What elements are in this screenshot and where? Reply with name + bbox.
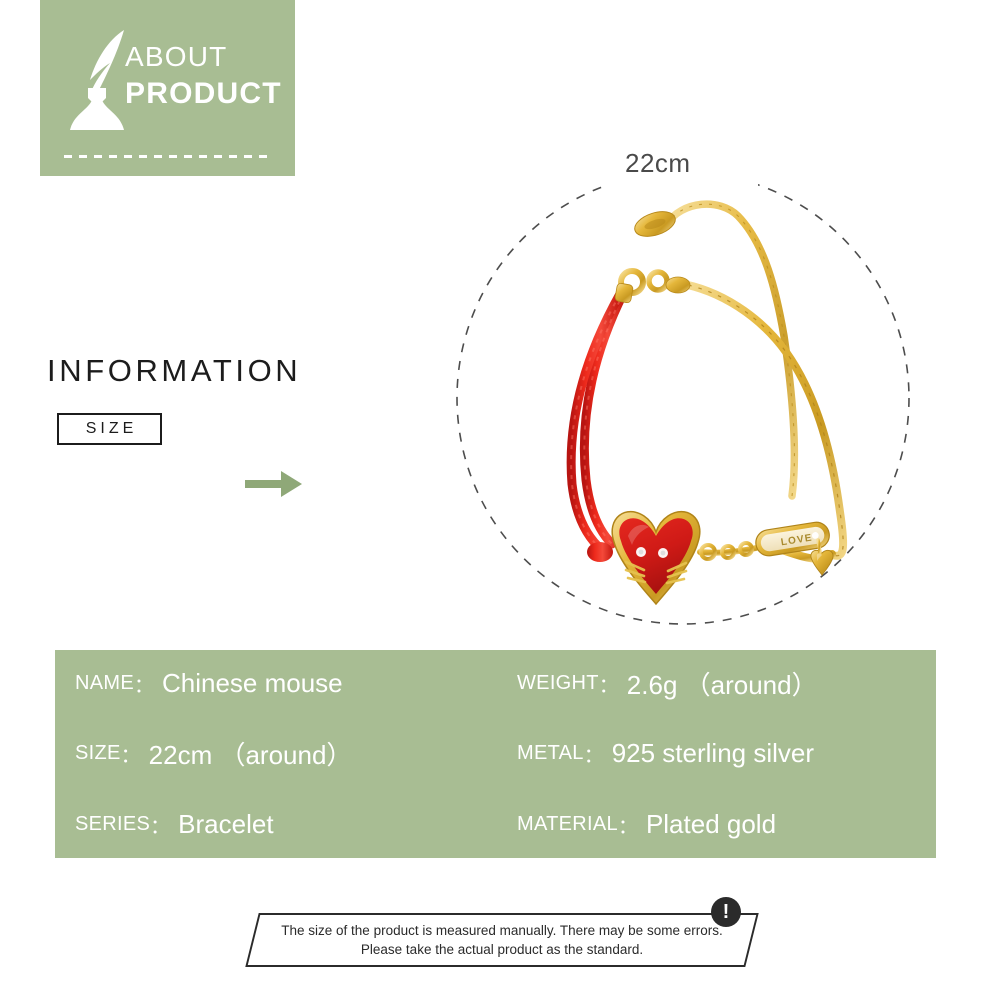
- spec-value-weight: 2.6g （around）: [627, 665, 818, 702]
- spec-colon: ：: [618, 810, 638, 839]
- spec-colon: ：: [584, 739, 604, 768]
- spec-key-series: SERIES: [75, 813, 150, 836]
- disclaimer-line2: Please take the actual product as the st…: [361, 940, 643, 959]
- size-tag-label: SIZE: [82, 420, 138, 438]
- table-row: SIZE ： 22cm （around）: [55, 720, 494, 787]
- about-title-line2: PRODUCT: [125, 74, 295, 114]
- spec-value-name: Chinese mouse: [162, 668, 343, 699]
- quill-inkwell-icon: [62, 26, 134, 136]
- header-dashed-divider: [64, 155, 272, 158]
- spec-key-metal: METAL: [517, 742, 584, 765]
- table-row: SERIES ： Bracelet: [55, 791, 494, 858]
- about-product-header: ABOUT PRODUCT: [40, 0, 295, 176]
- spec-value-material: Plated gold: [646, 809, 776, 840]
- spec-colon: ：: [134, 669, 154, 698]
- spec-value-size: 22cm （around）: [149, 735, 353, 772]
- table-row: METAL ： 925 sterling silver: [497, 720, 936, 787]
- specification-table: NAME ： Chinese mouse WEIGHT ： 2.6g （arou…: [55, 650, 936, 858]
- spec-value-series: Bracelet: [178, 809, 273, 840]
- spec-key-size: SIZE: [75, 742, 121, 765]
- about-title-line1: ABOUT: [125, 40, 295, 74]
- measurement-label: 22cm: [625, 148, 691, 179]
- table-row: MATERIAL ： Plated gold: [497, 791, 936, 858]
- spec-key-weight: WEIGHT: [517, 672, 599, 695]
- disclaimer-line1: The size of the product is measured manu…: [281, 921, 722, 940]
- size-tag-box: SIZE: [57, 413, 162, 445]
- exclamation-glyph: !: [723, 902, 730, 922]
- product-photo: LOVE 22cm: [420, 140, 950, 640]
- disclaimer-text: The size of the product is measured manu…: [252, 913, 752, 967]
- disclaimer-banner: The size of the product is measured manu…: [252, 913, 752, 967]
- about-product-title: ABOUT PRODUCT: [125, 40, 295, 114]
- table-row: NAME ： Chinese mouse: [55, 650, 494, 717]
- spec-key-name: NAME: [75, 672, 134, 695]
- table-row: WEIGHT ： 2.6g （around）: [497, 650, 936, 717]
- spec-value-metal: 925 sterling silver: [612, 738, 814, 769]
- spec-colon: ：: [150, 810, 170, 839]
- product-infographic-page: ABOUT PRODUCT INFORMATION SIZE: [0, 0, 1001, 1001]
- information-heading: INFORMATION: [47, 353, 301, 389]
- right-arrow-icon: [245, 470, 303, 498]
- spec-colon: ：: [599, 669, 619, 698]
- spec-key-material: MATERIAL: [517, 813, 618, 836]
- spec-colon: ：: [121, 739, 141, 768]
- exclamation-icon: !: [711, 897, 741, 927]
